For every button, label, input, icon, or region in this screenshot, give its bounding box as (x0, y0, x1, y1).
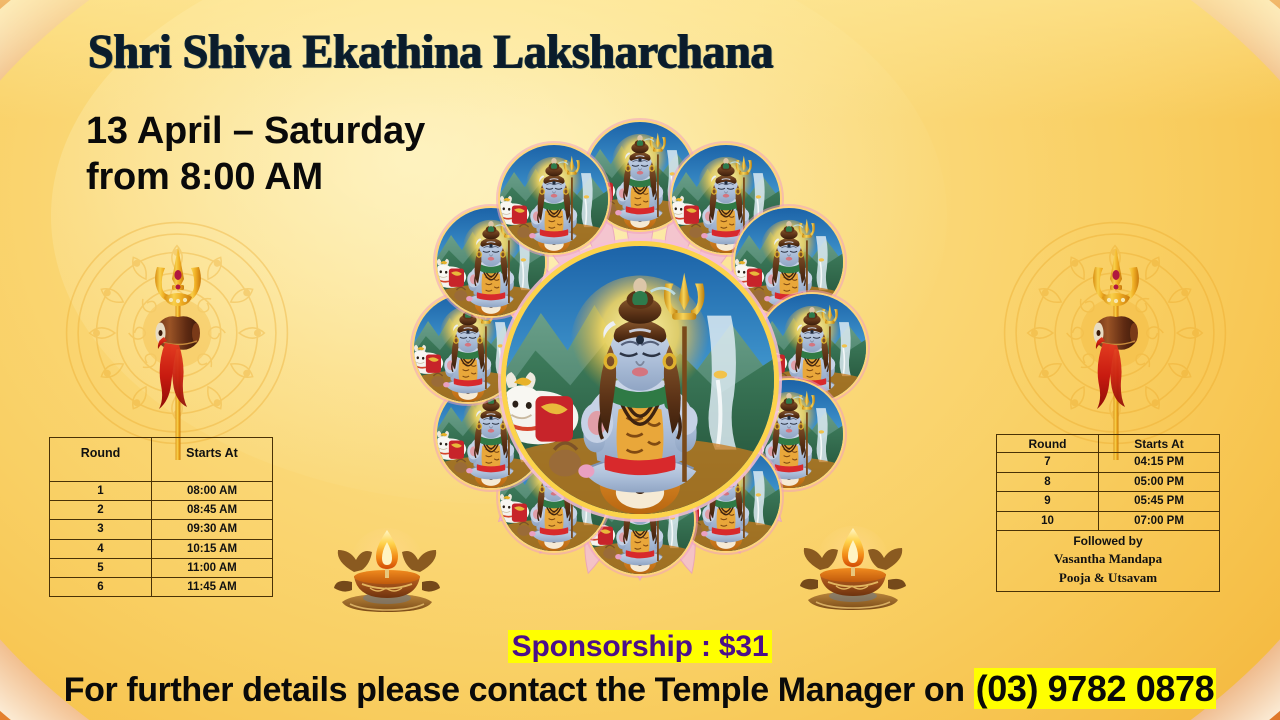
footer-line-ritual: Pooja & Utsavam (997, 569, 1219, 588)
column-header-starts-at: Starts At (1099, 435, 1220, 453)
table-row: 6 11:45 AM (50, 577, 273, 596)
table-row: 1 08:00 AM (50, 482, 273, 501)
cell-round: 2 (50, 501, 152, 520)
cell-starts-at: 07:00 PM (1099, 511, 1220, 531)
cell-round: 9 (997, 492, 1099, 512)
cell-starts-at: 09:30 AM (152, 520, 273, 539)
table-row: 2 08:45 AM (50, 501, 273, 520)
shiva-figure-icon (506, 246, 774, 514)
schedule-table-afternoon: Round Starts At 7 04:15 PM 8 05:00 PM 9 … (996, 434, 1220, 592)
footer-line-venue: Vasantha Mandapa (997, 550, 1219, 569)
cell-round: 1 (50, 482, 152, 501)
cell-round: 7 (997, 453, 1099, 473)
table-row: 3 09:30 AM (50, 520, 273, 539)
cell-starts-at: 04:15 PM (1099, 453, 1220, 473)
table-header-row: Round Starts At (50, 438, 273, 482)
cell-starts-at: 05:00 PM (1099, 472, 1220, 492)
shiva-figure-icon (500, 145, 608, 253)
cell-round: 3 (50, 520, 152, 539)
table-row: 5 11:00 AM (50, 558, 273, 577)
table-row: 8 05:00 PM (997, 472, 1220, 492)
column-header-round: Round (997, 435, 1099, 453)
column-header-round: Round (50, 438, 152, 482)
cell-starts-at: 11:00 AM (152, 558, 273, 577)
cell-starts-at: 08:45 AM (152, 501, 273, 520)
page-title: Shri Shiva Ekathina Laksharchana (88, 24, 773, 79)
footer-line-followed-by: Followed by (997, 533, 1219, 550)
shiva-center-medallion (506, 246, 774, 514)
diya-lamp-icon (798, 522, 908, 614)
event-date-time: 13 April – Saturday from 8:00 AM (86, 108, 425, 201)
cell-starts-at: 05:45 PM (1099, 492, 1220, 512)
table-row: 9 05:45 PM (997, 492, 1220, 512)
cell-round: 8 (997, 472, 1099, 492)
cell-starts-at: 10:15 AM (152, 539, 273, 558)
cell-round: 5 (50, 558, 152, 577)
table-footer-cell: Followed by Vasantha Mandapa Pooja & Uts… (997, 531, 1220, 592)
cell-round: 10 (997, 511, 1099, 531)
schedule-table-morning: Round Starts At 1 08:00 AM 2 08:45 AM 3 … (49, 437, 273, 597)
cell-starts-at: 11:45 AM (152, 577, 273, 596)
sponsorship-line: Sponsorship : $31 (0, 630, 1280, 664)
table-row: 4 10:15 AM (50, 539, 273, 558)
table-footer-row: Followed by Vasantha Mandapa Pooja & Uts… (997, 531, 1220, 592)
event-time-line: from 8:00 AM (86, 154, 425, 200)
cell-starts-at: 08:00 AM (152, 482, 273, 501)
table-row: 7 04:15 PM (997, 453, 1220, 473)
diya-lamp-icon (332, 524, 442, 616)
column-header-starts-at: Starts At (152, 438, 273, 482)
contact-text: For further details please contact the T… (64, 671, 974, 709)
table-header-row: Round Starts At (997, 435, 1220, 453)
event-date-line: 13 April – Saturday (86, 108, 425, 154)
contact-phone-number[interactable]: (03) 9782 0878 (974, 668, 1217, 709)
contact-line: For further details please contact the T… (0, 668, 1280, 710)
shiva-small-medallion (500, 145, 608, 253)
cell-round: 6 (50, 577, 152, 596)
poster-canvas: Shri Shiva Ekathina Laksharchana 13 Apri… (0, 0, 1280, 720)
table-row: 10 07:00 PM (997, 511, 1220, 531)
sponsorship-text: Sponsorship : $31 (508, 630, 773, 663)
cell-round: 4 (50, 539, 152, 558)
